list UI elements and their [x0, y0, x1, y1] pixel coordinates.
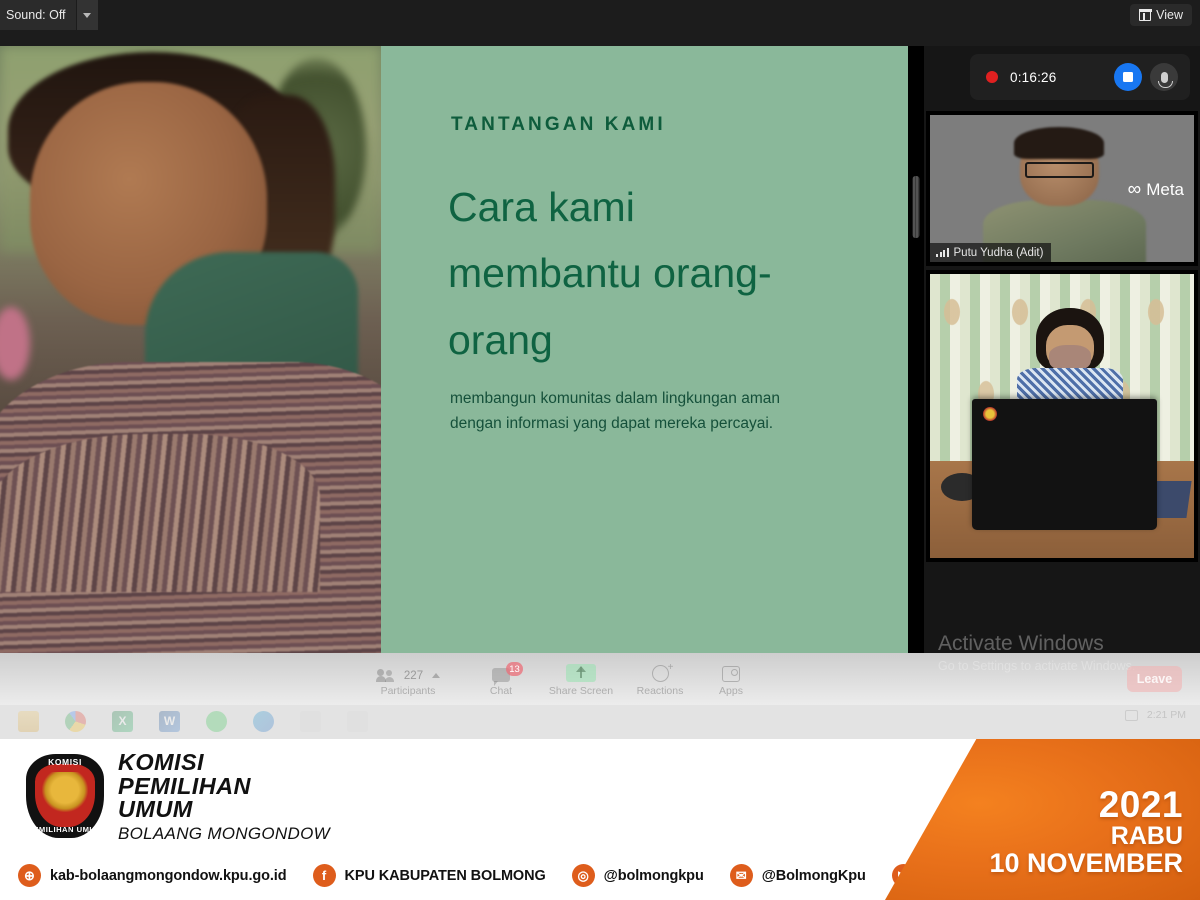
participant-name: Putu Yudha (Adit) — [954, 247, 1044, 259]
instagram-icon: ◎ — [572, 864, 595, 887]
apps-label: Apps — [719, 685, 743, 697]
slide-text-panel: TANTANGAN KAMI Cara kami membantu orang-… — [381, 46, 916, 653]
app-icon[interactable] — [300, 711, 321, 732]
kpu-seal-icon: KOMISI PEMILIHAN UMUM — [26, 754, 104, 838]
social-facebook[interactable]: f KPU KABUPATEN BOLMONG — [313, 864, 546, 887]
excel-icon[interactable]: X — [112, 711, 133, 732]
participants-button[interactable]: 227 Participants — [365, 660, 451, 697]
view-button-label: View — [1156, 8, 1183, 22]
zoom-window-topbar: Sound: Off View — [0, 0, 1200, 30]
kpu-banner: KOMISI PEMILIHAN UMUM KOMISI PEMILIHAN U… — [0, 739, 1200, 900]
social-facebook-text: KPU KABUPATEN BOLMONG — [345, 868, 546, 884]
sound-status-control[interactable]: Sound: Off — [0, 0, 98, 30]
word-icon[interactable]: W — [159, 711, 180, 732]
social-instagram-text: @bolmongkpu — [604, 868, 704, 884]
chevron-up-icon[interactable] — [432, 673, 440, 678]
participants-count: 227 — [404, 670, 423, 682]
chat-button[interactable]: 13 Chat — [458, 660, 544, 697]
recording-timer: 0:16:26 — [1010, 70, 1056, 85]
slide-subtext: membangun komunitas dalam lingkungan ama… — [450, 386, 795, 437]
election-date-panel: 2021 RABU 10 NOVEMBER — [885, 739, 1200, 900]
reactions-label: Reactions — [637, 685, 684, 697]
slide-kicker: TANTANGAN KAMI — [451, 114, 666, 136]
video-gallery-panel: 0:16:26 ∞ Meta Putu Yudha (Adit) — [924, 46, 1200, 653]
apps-icon — [722, 666, 740, 682]
stop-recording-button[interactable] — [1114, 63, 1142, 91]
chevron-down-icon — [83, 13, 91, 18]
meta-wordmark: Meta — [1146, 180, 1184, 200]
presentation-slide: TANTANGAN KAMI Cara kami membantu orang-… — [0, 46, 916, 653]
app-icon[interactable] — [347, 711, 368, 732]
edge-icon[interactable] — [253, 711, 274, 732]
chat-icon: 13 — [492, 668, 510, 682]
slide-photo — [0, 46, 381, 653]
meeting-toolbar: 227 Participants 13 Chat Share Screen + — [0, 653, 1200, 705]
microphone-button[interactable] — [1150, 63, 1178, 91]
participant-name-badge: Putu Yudha (Adit) — [930, 243, 1051, 262]
twitter-icon: ✉ — [730, 864, 753, 887]
grid-view-icon — [1139, 10, 1151, 21]
org-line-1: KOMISI — [118, 751, 330, 775]
leave-button[interactable]: Leave — [1127, 666, 1182, 692]
recording-control-bar: 0:16:26 — [970, 54, 1190, 100]
kpu-org-name: KOMISI PEMILIHAN UMUM BOLAANG MONGONDOW — [118, 751, 330, 842]
view-button[interactable]: View — [1130, 4, 1192, 26]
apps-button[interactable]: Apps — [688, 660, 774, 697]
share-screen-icon — [566, 664, 596, 682]
share-screen-label: Share Screen — [549, 685, 613, 697]
social-links-row: ⊕ kab-bolaangmongondow.kpu.go.id f KPU K… — [18, 864, 1033, 887]
sound-status-label: Sound: Off — [0, 8, 76, 22]
seal-bottom-text: PEMILIHAN UMUM — [26, 825, 104, 834]
date-year: 2021 — [989, 787, 1183, 823]
slide-heading: Cara kami membantu orang-orang — [448, 174, 778, 373]
video-tile[interactable] — [926, 270, 1198, 562]
reactions-icon: + — [652, 665, 669, 682]
date-day-month: 10 NOVEMBER — [989, 849, 1183, 878]
seal-top-text: KOMISI — [26, 757, 104, 767]
screen-root: Sound: Off View TANTANGAN KAMI Cara kami… — [0, 0, 1200, 900]
video-tile[interactable]: ∞ Meta Putu Yudha (Adit) — [926, 111, 1198, 266]
globe-icon: ⊕ — [18, 864, 41, 887]
shared-screen-area[interactable]: TANTANGAN KAMI Cara kami membantu orang-… — [0, 46, 916, 653]
meta-logo: ∞ Meta — [1128, 180, 1184, 200]
social-twitter-text: @BolmongKpu — [762, 868, 866, 884]
signal-bars-icon — [936, 248, 949, 257]
participants-icon — [376, 669, 398, 682]
social-website[interactable]: ⊕ kab-bolaangmongondow.kpu.go.id — [18, 864, 287, 887]
share-screen-button[interactable]: Share Screen — [538, 660, 624, 697]
record-dot-icon — [986, 71, 998, 83]
kpu-logo-block: KOMISI PEMILIHAN UMUM KOMISI PEMILIHAN U… — [26, 751, 330, 842]
org-line-2: PEMILIHAN — [118, 775, 330, 799]
windows-taskbar: X W 2:21 PM — [0, 705, 1200, 739]
sound-dropdown-button[interactable] — [76, 0, 98, 30]
whatsapp-icon[interactable] — [206, 711, 227, 732]
social-website-text: kab-bolaangmongondow.kpu.go.id — [50, 868, 287, 884]
participants-label: Participants — [381, 685, 436, 697]
system-tray: 2:21 PM — [1125, 709, 1186, 722]
file-explorer-icon[interactable] — [18, 711, 39, 732]
chat-unread-badge: 13 — [506, 662, 523, 676]
chrome-icon[interactable] — [65, 711, 86, 732]
date-day-name: RABU — [989, 823, 1183, 849]
org-line-4: BOLAANG MONGONDOW — [118, 825, 330, 842]
microphone-icon — [1161, 72, 1168, 83]
taskbar-clock[interactable]: 2:21 PM — [1147, 709, 1186, 721]
org-line-3: UMUM — [118, 798, 330, 822]
panel-divider[interactable] — [908, 46, 924, 653]
meta-infinity-icon: ∞ — [1128, 180, 1142, 199]
battery-icon[interactable] — [1125, 710, 1138, 721]
divider-drag-handle[interactable] — [913, 176, 920, 238]
chat-label: Chat — [490, 685, 512, 697]
facebook-icon: f — [313, 864, 336, 887]
social-instagram[interactable]: ◎ @bolmongkpu — [572, 864, 704, 887]
social-twitter[interactable]: ✉ @BolmongKpu — [730, 864, 866, 887]
